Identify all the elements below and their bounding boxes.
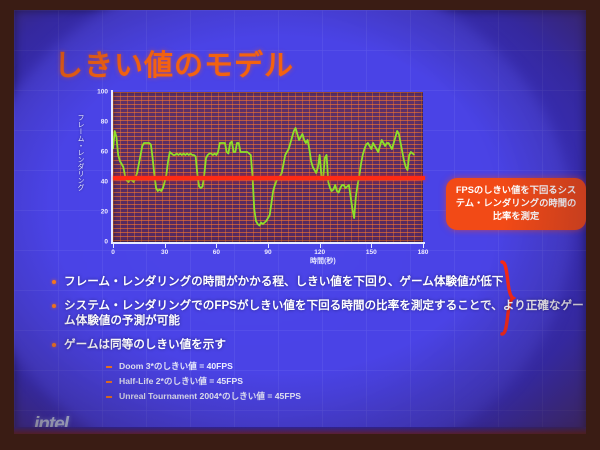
projection-vignette: [14, 10, 586, 434]
projected-slide-photo: しきい値のモデル フレーム・レンダリング 020406080100 030609…: [0, 0, 600, 450]
slide: しきい値のモデル フレーム・レンダリング 020406080100 030609…: [14, 10, 586, 434]
